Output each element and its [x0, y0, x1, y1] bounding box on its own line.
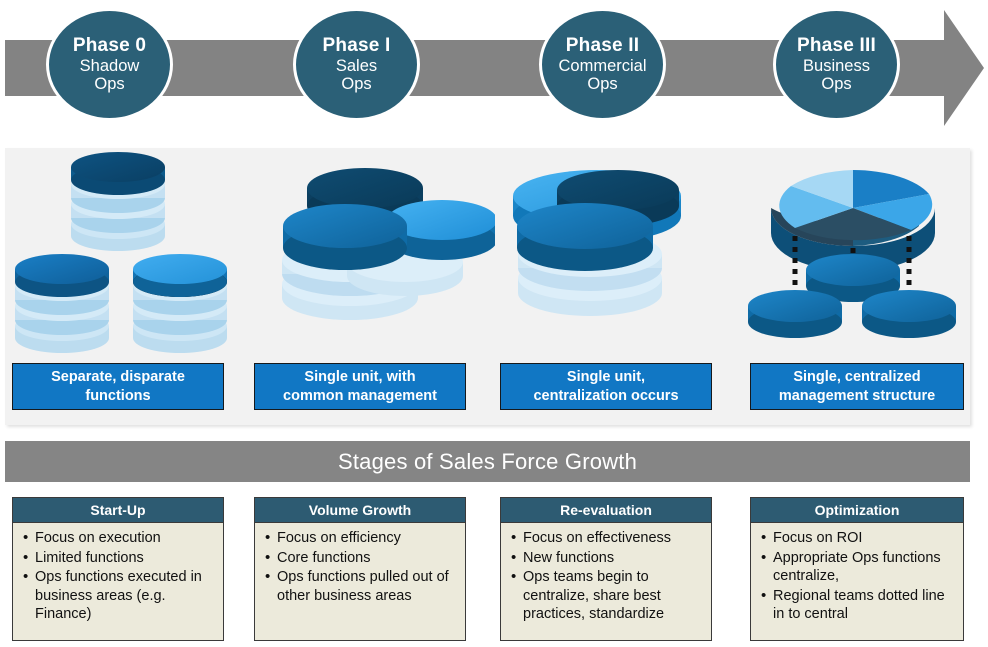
list-item: Core functions — [277, 549, 459, 568]
phase-title: Phase III — [797, 35, 876, 56]
phase-arrow-banner: Phase 0 Shadow Ops Phase I Sales Ops Pha… — [0, 0, 988, 133]
stage-bullet-list: Focus on efficiency Core functions Ops f… — [259, 529, 459, 605]
phase-title: Phase 0 — [73, 35, 146, 56]
list-item: Ops functions pulled out of other busine… — [277, 568, 459, 605]
caption-line2: centralization occurs — [533, 388, 678, 404]
caption-line1: Single unit, with — [304, 369, 415, 385]
stage-card-optimization: Optimization Focus on ROI Appropriate Op… — [750, 497, 964, 641]
list-item: Appropriate Ops functions centralize, — [773, 549, 957, 586]
phase-subtitle-line1: Sales — [336, 57, 377, 75]
caption-bar-0: Separate, disparate functions — [12, 363, 224, 410]
list-item: Focus on effectiveness — [523, 529, 705, 548]
stage-card-start-up: Start-Up Focus on execution Limited func… — [12, 497, 224, 641]
list-item: New functions — [523, 549, 705, 568]
three-separate-stacked-cylinders-icon — [10, 148, 250, 353]
phase-subtitle-line1: Business — [803, 57, 870, 75]
phase-circle-3[interactable]: Phase III Business Ops — [773, 8, 900, 121]
caption-line1: Single, centralized — [793, 369, 920, 385]
stage-bullet-list: Focus on effectiveness New functions Ops… — [505, 529, 705, 624]
phase-circle-0[interactable]: Phase 0 Shadow Ops — [46, 8, 173, 121]
stages-banner-title: Stages of Sales Force Growth — [5, 441, 970, 482]
phase-circle-2[interactable]: Phase II Commercial Ops — [539, 8, 666, 121]
stage-card-body: Focus on effectiveness New functions Ops… — [500, 523, 712, 641]
phase-circle-1[interactable]: Phase I Sales Ops — [293, 8, 420, 121]
caption-bar-2: Single unit, centralization occurs — [500, 363, 712, 410]
caption-line1: Separate, disparate — [51, 369, 185, 385]
list-item: Ops functions executed in business areas… — [35, 568, 217, 624]
phase-subtitle-line2: Ops — [341, 75, 371, 93]
list-item: Ops teams begin to centralize, share bes… — [523, 568, 705, 624]
caption-line2: management structure — [779, 388, 935, 404]
pie-chart-with-dotted-lines-to-three-discs-icon — [733, 148, 973, 353]
arrow-head-icon — [900, 10, 984, 126]
stage-card-header: Start-Up — [12, 497, 224, 523]
stage-card-body: Focus on efficiency Core functions Ops f… — [254, 523, 466, 641]
caption-line2: common management — [283, 388, 437, 404]
stage-card-body: Focus on execution Limited functions Ops… — [12, 523, 224, 641]
stage-bullet-list: Focus on execution Limited functions Ops… — [17, 529, 217, 624]
stage-bullet-list: Focus on ROI Appropriate Ops functions c… — [755, 529, 957, 624]
three-overlapping-discs-icon — [255, 148, 495, 353]
phase-subtitle-line2: Ops — [587, 75, 617, 93]
caption-bar-3: Single, centralized management structure — [750, 363, 964, 410]
stage-card-header: Volume Growth — [254, 497, 466, 523]
list-item: Focus on execution — [35, 529, 217, 548]
stage-card-header: Optimization — [750, 497, 964, 523]
caption-line1: Single unit, — [567, 369, 645, 385]
list-item: Limited functions — [35, 549, 217, 568]
stage-card-body: Focus on ROI Appropriate Ops functions c… — [750, 523, 964, 641]
stage-card-header: Re-evaluation — [500, 497, 712, 523]
phase-title: Phase II — [566, 35, 639, 56]
caption-line2: functions — [85, 388, 150, 404]
phase-subtitle-line2: Ops — [821, 75, 851, 93]
phase-title: Phase I — [323, 35, 391, 56]
caption-bar-1: Single unit, with common management — [254, 363, 466, 410]
phase-subtitle-line1: Shadow — [80, 57, 140, 75]
list-item: Focus on efficiency — [277, 529, 459, 548]
two-overlapping-discs-icon — [495, 148, 735, 353]
stage-card-volume-growth: Volume Growth Focus on efficiency Core f… — [254, 497, 466, 641]
phase-subtitle-line2: Ops — [94, 75, 124, 93]
list-item: Regional teams dotted line in to central — [773, 587, 957, 624]
stage-card-re-evaluation: Re-evaluation Focus on effectiveness New… — [500, 497, 712, 641]
list-item: Focus on ROI — [773, 529, 957, 548]
phase-subtitle-line1: Commercial — [558, 57, 646, 75]
